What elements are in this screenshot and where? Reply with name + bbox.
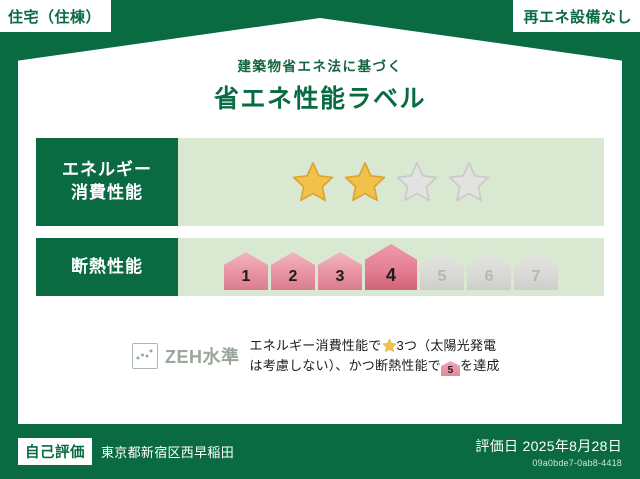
chart-square-icon-glyph: [133, 344, 156, 367]
evaluation-id: 09a0bde7-0ab8-4418: [475, 458, 622, 468]
building-type-tag: 住宅（住棟）: [0, 0, 111, 32]
zeh-desc-text-b: 3つ（太陽光発電: [397, 338, 497, 353]
zeh-desc-text-a: エネルギー消費性能で: [250, 338, 382, 353]
insulation-level-scale: 1234567: [224, 244, 558, 290]
star-icon-empty: [446, 160, 492, 204]
title-main: 省エネ性能ラベル: [0, 79, 640, 115]
evaluation-date: 評価日 2025年8月28日: [475, 436, 622, 456]
renewable-equipment-tag: 再エネ設備なし: [513, 0, 640, 32]
star-rating: [178, 138, 604, 226]
zeh-description: エネルギー消費性能で3つ（太陽光発電 は考慮しない）、かつ断熱性能で5を達成: [250, 336, 500, 376]
zeh-mark-label: ZEH水準: [165, 343, 240, 369]
property-address: 東京都新宿区西早稲田: [101, 442, 234, 461]
star-icon: [382, 338, 397, 353]
self-evaluation-badge: 自己評価: [18, 438, 92, 465]
insulation-level-badge-3: 3: [318, 252, 362, 290]
insulation-performance-label: 断熱性能: [36, 238, 178, 296]
star-icon-filled: [342, 160, 388, 204]
energy-performance-label: エネルギー 消費性能: [36, 138, 178, 226]
insulation-performance-row: 断熱性能 1234567: [36, 238, 604, 296]
zeh-description-line2: は考慮しない）、かつ断熱性能で5を達成: [250, 356, 500, 376]
zeh-desc-text-c: は考慮しない）、かつ断熱性能で: [250, 358, 442, 373]
star-icon-filled: [290, 160, 336, 204]
title-subtitle: 建築物省エネ法に基づく: [0, 55, 640, 75]
insulation-level-badge-6: 6: [467, 252, 511, 290]
insulation-level-badge-4: 4: [365, 244, 417, 290]
energy-performance-row: エネルギー 消費性能: [36, 138, 604, 226]
inline-insulation-badge: 5: [441, 361, 460, 376]
energy-label-line2: 消費性能: [71, 182, 143, 205]
zeh-desc-text-d: を達成: [460, 358, 500, 373]
insulation-level-badge-5: 5: [420, 252, 464, 290]
insulation-level-badge-2: 2: [271, 252, 315, 290]
insulation-label-text: 断熱性能: [71, 256, 143, 279]
energy-performance-label: 住宅（住棟） 再エネ設備なし 建築物省エネ法に基づく 省エネ性能ラベル エネルギ…: [0, 0, 640, 479]
chart-square-icon: [132, 343, 158, 369]
insulation-level-badge-7: 7: [514, 252, 558, 290]
energy-label-line1: エネルギー: [62, 159, 152, 182]
star-icon-empty: [394, 160, 440, 204]
label-footer: 自己評価 東京都新宿区西早稲田 評価日 2025年8月28日 09a0bde7-…: [0, 424, 640, 479]
insulation-level-badge-1: 1: [224, 252, 268, 290]
zeh-description-line1: エネルギー消費性能で3つ（太陽光発電: [250, 336, 500, 356]
page-title: 建築物省エネ法に基づく 省エネ性能ラベル: [0, 55, 640, 115]
zeh-mark: ZEH水準: [132, 343, 240, 369]
zeh-note: ZEH水準 エネルギー消費性能で3つ（太陽光発電 は考慮しない）、かつ断熱性能で…: [36, 336, 604, 376]
